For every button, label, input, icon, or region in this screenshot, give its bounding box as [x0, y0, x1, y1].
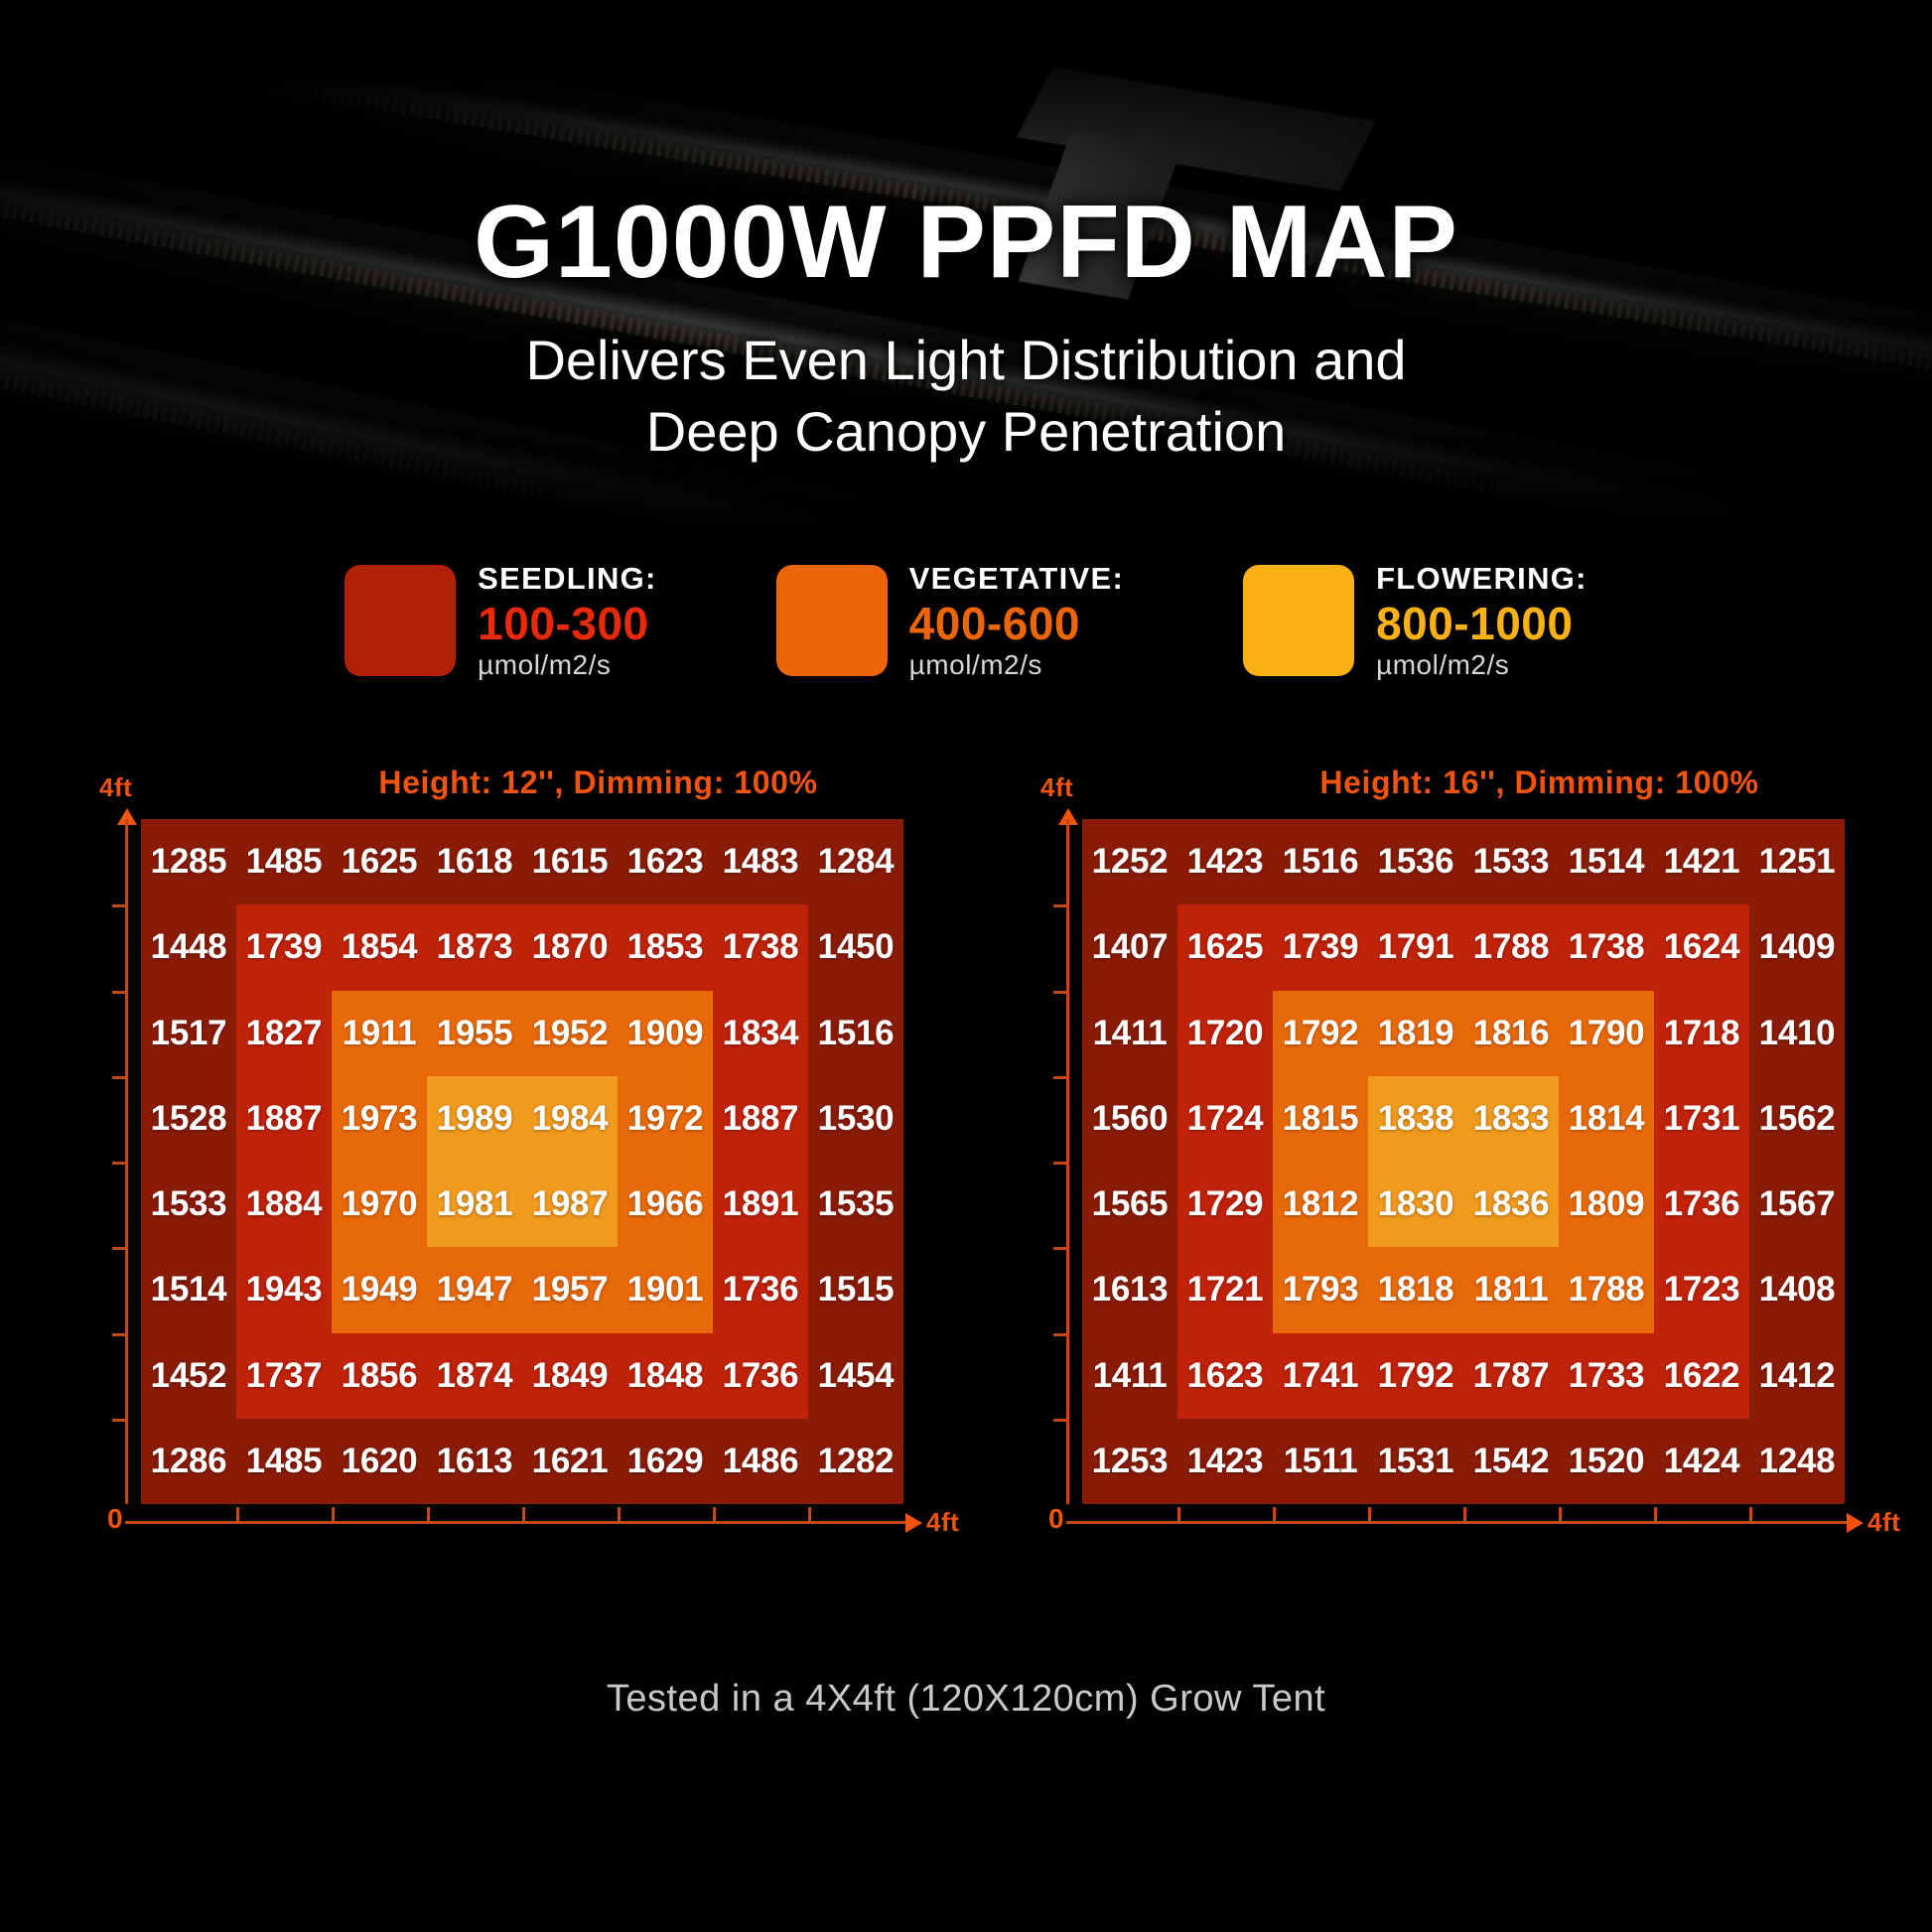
legend-swatch-vegetative — [776, 565, 888, 676]
ppfd-cell: 1911 — [332, 991, 427, 1076]
heatmap-cells: 1252142315161536153315141421125114071625… — [1082, 819, 1845, 1504]
ppfd-cell: 1625 — [1177, 904, 1273, 990]
map-caption: Height: 12'', Dimming: 100% — [243, 764, 953, 801]
ppfd-legend: SEEDLING: 100-300 µmol/m2/s VEGETATIVE: … — [0, 556, 1932, 685]
ppfd-cell: 1286 — [141, 1419, 236, 1504]
ppfd-cell: 1884 — [236, 1162, 332, 1247]
ppfd-cell: 1812 — [1273, 1162, 1368, 1247]
ppfd-cell: 1412 — [1749, 1333, 1845, 1419]
ppfd-cell: 1791 — [1368, 904, 1463, 990]
legend-text-seedling: SEEDLING: 100-300 µmol/m2/s — [478, 563, 657, 679]
ppfd-cell: 1809 — [1559, 1162, 1654, 1247]
ppfd-cell: 1736 — [713, 1247, 808, 1332]
ppfd-cell: 1836 — [1463, 1162, 1559, 1247]
ppfd-cell: 1790 — [1559, 991, 1654, 1076]
ppfd-cell: 1943 — [236, 1247, 332, 1332]
ppfd-cell: 1251 — [1749, 819, 1845, 904]
y-axis-tick — [112, 904, 126, 907]
ppfd-cell: 1957 — [522, 1247, 618, 1332]
legend-unit-label: µmol/m2/s — [1376, 651, 1587, 679]
ppfd-cell: 1562 — [1749, 1076, 1845, 1162]
legend-text-vegetative: VEGETATIVE: 400-600 µmol/m2/s — [909, 563, 1124, 679]
ppfd-cell: 1788 — [1559, 1247, 1654, 1332]
ppfd-cell: 1450 — [808, 904, 903, 990]
legend-stage-label: VEGETATIVE: — [909, 563, 1124, 594]
ppfd-cell: 1729 — [1177, 1162, 1273, 1247]
ppfd-cell: 1409 — [1749, 904, 1845, 990]
ppfd-cell: 1407 — [1082, 904, 1177, 990]
ppfd-cell: 1870 — [522, 904, 618, 990]
x-axis-tick — [1368, 1507, 1371, 1521]
ppfd-map-12in: Height: 12'', Dimming: 100% 4ft 4ft 0 12… — [99, 764, 953, 1588]
ppfd-cell: 1535 — [808, 1162, 903, 1247]
ppfd-cell: 1814 — [1559, 1076, 1654, 1162]
ppfd-cell: 1718 — [1654, 991, 1749, 1076]
ppfd-map-16in: Height: 16'', Dimming: 100% 4ft 4ft 0 12… — [1040, 764, 1894, 1588]
ppfd-cell: 1618 — [427, 819, 522, 904]
legend-stage-label: FLOWERING: — [1376, 563, 1587, 594]
y-axis-tick — [1053, 1419, 1067, 1422]
ppfd-cell: 1970 — [332, 1162, 427, 1247]
x-axis-tick — [618, 1507, 621, 1521]
ppfd-cell: 1252 — [1082, 819, 1177, 904]
heatmap-cells: 1285148516251618161516231483128414481739… — [141, 819, 903, 1504]
page-subtitle-line-2: Deep Canopy Penetration — [0, 396, 1932, 468]
ppfd-cell: 1629 — [618, 1419, 713, 1504]
ppfd-cell: 1411 — [1082, 991, 1177, 1076]
x-axis-tick — [427, 1507, 430, 1521]
ppfd-cell: 1887 — [713, 1076, 808, 1162]
y-axis-tick — [112, 1076, 126, 1079]
y-axis-label: 4ft — [1040, 772, 1073, 803]
ppfd-cell: 1721 — [1177, 1247, 1273, 1332]
ppfd-cell: 1733 — [1559, 1333, 1654, 1419]
ppfd-cell: 1533 — [1463, 819, 1559, 904]
ppfd-cell: 1723 — [1654, 1247, 1749, 1332]
ppfd-cell: 1253 — [1082, 1419, 1177, 1504]
legend-unit-label: µmol/m2/s — [478, 651, 657, 679]
ppfd-cell: 1737 — [236, 1333, 332, 1419]
x-axis-tick — [1654, 1507, 1657, 1521]
ppfd-cell: 1560 — [1082, 1076, 1177, 1162]
ppfd-cell: 1830 — [1368, 1162, 1463, 1247]
ppfd-cell: 1827 — [236, 991, 332, 1076]
ppfd-cell: 1987 — [522, 1162, 618, 1247]
ppfd-cell: 1410 — [1749, 991, 1845, 1076]
ppfd-cell: 1421 — [1654, 819, 1749, 904]
ppfd-cell: 1792 — [1368, 1333, 1463, 1419]
axis-origin-label: 0 — [107, 1503, 123, 1535]
ppfd-cell: 1787 — [1463, 1333, 1559, 1419]
ppfd-cell: 1815 — [1273, 1076, 1368, 1162]
ppfd-cell: 1811 — [1463, 1247, 1559, 1332]
ppfd-cell: 1724 — [1177, 1076, 1273, 1162]
page-subtitle: Delivers Even Light Distribution and Dee… — [0, 325, 1932, 467]
x-axis-line — [1066, 1521, 1851, 1524]
y-axis-tick — [1053, 1333, 1067, 1336]
ppfd-cell: 1738 — [1559, 904, 1654, 990]
axis-origin-label: 0 — [1048, 1503, 1064, 1535]
ppfd-cell: 1620 — [332, 1419, 427, 1504]
ppfd-cell: 1514 — [1559, 819, 1654, 904]
y-axis-tick — [1053, 1076, 1067, 1079]
y-axis-label: 4ft — [99, 772, 132, 803]
x-axis-tick — [1273, 1507, 1276, 1521]
ppfd-cell: 1454 — [808, 1333, 903, 1419]
ppfd-cell: 1565 — [1082, 1162, 1177, 1247]
ppfd-cell: 1901 — [618, 1247, 713, 1332]
legend-unit-label: µmol/m2/s — [909, 651, 1124, 679]
ppfd-cell: 1981 — [427, 1162, 522, 1247]
x-axis-tick — [522, 1507, 525, 1521]
legend-range-value: 800-1000 — [1376, 601, 1587, 646]
ppfd-cell: 1542 — [1463, 1419, 1559, 1504]
heatmap-grid: 1285148516251618161516231483128414481739… — [141, 819, 903, 1504]
ppfd-cell: 1615 — [522, 819, 618, 904]
legend-text-flowering: FLOWERING: 800-1000 µmol/m2/s — [1376, 563, 1587, 679]
heatmap-grid: 1252142315161536153315141421125114071625… — [1082, 819, 1845, 1504]
x-axis-tick — [1463, 1507, 1466, 1521]
ppfd-cell: 1818 — [1368, 1247, 1463, 1332]
ppfd-cell: 1452 — [141, 1333, 236, 1419]
ppfd-cell: 1284 — [808, 819, 903, 904]
legend-swatch-flowering — [1243, 565, 1354, 676]
ppfd-cell: 1854 — [332, 904, 427, 990]
ppfd-cell: 1515 — [808, 1247, 903, 1332]
ppfd-cell: 1949 — [332, 1247, 427, 1332]
ppfd-cell: 1613 — [427, 1419, 522, 1504]
x-axis-line — [125, 1521, 909, 1524]
ppfd-cell: 1947 — [427, 1247, 522, 1332]
ppfd-cell: 1720 — [1177, 991, 1273, 1076]
map-caption: Height: 16'', Dimming: 100% — [1184, 764, 1894, 801]
x-axis-tick — [1559, 1507, 1562, 1521]
x-axis-label: 4ft — [1867, 1507, 1900, 1538]
ppfd-cell: 1423 — [1177, 819, 1273, 904]
x-axis-tick — [332, 1507, 335, 1521]
legend-stage-label: SEEDLING: — [478, 563, 657, 594]
page-title: G1000W PPFD MAP — [0, 189, 1932, 297]
ppfd-cell: 1530 — [808, 1076, 903, 1162]
ppfd-cell: 1623 — [618, 819, 713, 904]
ppfd-cell: 1516 — [1273, 819, 1368, 904]
ppfd-cell: 1533 — [141, 1162, 236, 1247]
ppfd-cell: 1511 — [1273, 1419, 1368, 1504]
ppfd-cell: 1838 — [1368, 1076, 1463, 1162]
ppfd-cell: 1731 — [1654, 1076, 1749, 1162]
legend-item-flowering: FLOWERING: 800-1000 µmol/m2/s — [1243, 563, 1587, 679]
ppfd-cell: 1411 — [1082, 1333, 1177, 1419]
legend-range-value: 100-300 — [478, 601, 657, 646]
ppfd-cell: 1972 — [618, 1076, 713, 1162]
x-axis-tick — [1177, 1507, 1180, 1521]
ppfd-maps: Height: 12'', Dimming: 100% 4ft 4ft 0 12… — [0, 764, 1932, 1588]
ppfd-cell: 1741 — [1273, 1333, 1368, 1419]
y-axis-tick — [1053, 1162, 1067, 1165]
ppfd-cell: 1282 — [808, 1419, 903, 1504]
ppfd-cell: 1485 — [236, 1419, 332, 1504]
ppfd-cell: 1887 — [236, 1076, 332, 1162]
ppfd-cell: 1424 — [1654, 1419, 1749, 1504]
ppfd-cell: 1973 — [332, 1076, 427, 1162]
ppfd-cell: 1567 — [1749, 1162, 1845, 1247]
ppfd-cell: 1984 — [522, 1076, 618, 1162]
x-axis-tick — [1749, 1507, 1752, 1521]
ppfd-cell: 1966 — [618, 1162, 713, 1247]
ppfd-cell: 1448 — [141, 904, 236, 990]
x-axis-tick — [713, 1507, 716, 1521]
legend-range-value: 400-600 — [909, 601, 1124, 646]
ppfd-cell: 1423 — [1177, 1419, 1273, 1504]
ppfd-cell: 1736 — [1654, 1162, 1749, 1247]
title-block: G1000W PPFD MAP Delivers Even Light Dist… — [0, 189, 1932, 468]
ppfd-cell: 1613 — [1082, 1247, 1177, 1332]
page-subtitle-line-1: Delivers Even Light Distribution and — [0, 325, 1932, 396]
ppfd-cell: 1736 — [713, 1333, 808, 1419]
ppfd-cell: 1788 — [1463, 904, 1559, 990]
ppfd-cell: 1989 — [427, 1076, 522, 1162]
ppfd-cell: 1536 — [1368, 819, 1463, 904]
ppfd-cell: 1739 — [1273, 904, 1368, 990]
legend-swatch-seedling — [345, 565, 456, 676]
ppfd-cell: 1891 — [713, 1162, 808, 1247]
ppfd-cell: 1485 — [236, 819, 332, 904]
footer-note: Tested in a 4X4ft (120X120cm) Grow Tent — [0, 1678, 1932, 1721]
x-axis-label: 4ft — [926, 1507, 959, 1538]
ppfd-cell: 1623 — [1177, 1333, 1273, 1419]
ppfd-cell: 1516 — [808, 991, 903, 1076]
x-axis-tick — [808, 1507, 811, 1521]
ppfd-cell: 1819 — [1368, 991, 1463, 1076]
y-axis-tick — [112, 1247, 126, 1250]
ppfd-cell: 1285 — [141, 819, 236, 904]
ppfd-cell: 1520 — [1559, 1419, 1654, 1504]
ppfd-cell: 1528 — [141, 1076, 236, 1162]
y-axis-tick — [112, 1333, 126, 1336]
ppfd-cell: 1517 — [141, 991, 236, 1076]
ppfd-cell: 1483 — [713, 819, 808, 904]
ppfd-cell: 1408 — [1749, 1247, 1845, 1332]
ppfd-cell: 1621 — [522, 1419, 618, 1504]
ppfd-cell: 1874 — [427, 1333, 522, 1419]
y-axis-tick — [1053, 904, 1067, 907]
y-axis-tick — [112, 1419, 126, 1422]
y-axis-tick — [112, 991, 126, 994]
x-axis-arrow-icon — [905, 1513, 922, 1533]
legend-item-seedling: SEEDLING: 100-300 µmol/m2/s — [345, 563, 657, 679]
ppfd-cell: 1514 — [141, 1247, 236, 1332]
y-axis-tick — [1053, 991, 1067, 994]
ppfd-cell: 1952 — [522, 991, 618, 1076]
ppfd-cell: 1625 — [332, 819, 427, 904]
y-axis-tick — [1053, 1247, 1067, 1250]
ppfd-cell: 1873 — [427, 904, 522, 990]
ppfd-cell: 1816 — [1463, 991, 1559, 1076]
ppfd-cell: 1848 — [618, 1333, 713, 1419]
ppfd-cell: 1955 — [427, 991, 522, 1076]
y-axis-tick — [112, 1162, 126, 1165]
ppfd-cell: 1738 — [713, 904, 808, 990]
ppfd-cell: 1622 — [1654, 1333, 1749, 1419]
legend-item-vegetative: VEGETATIVE: 400-600 µmol/m2/s — [776, 563, 1124, 679]
ppfd-cell: 1792 — [1273, 991, 1368, 1076]
x-axis-arrow-icon — [1847, 1513, 1863, 1533]
ppfd-cell: 1834 — [713, 991, 808, 1076]
ppfd-cell: 1833 — [1463, 1076, 1559, 1162]
ppfd-cell: 1248 — [1749, 1419, 1845, 1504]
ppfd-cell: 1909 — [618, 991, 713, 1076]
ppfd-cell: 1486 — [713, 1419, 808, 1504]
ppfd-cell: 1849 — [522, 1333, 618, 1419]
ppfd-cell: 1856 — [332, 1333, 427, 1419]
ppfd-cell: 1739 — [236, 904, 332, 990]
ppfd-cell: 1793 — [1273, 1247, 1368, 1332]
ppfd-cell: 1531 — [1368, 1419, 1463, 1504]
ppfd-cell: 1624 — [1654, 904, 1749, 990]
x-axis-tick — [236, 1507, 239, 1521]
ppfd-cell: 1853 — [618, 904, 713, 990]
